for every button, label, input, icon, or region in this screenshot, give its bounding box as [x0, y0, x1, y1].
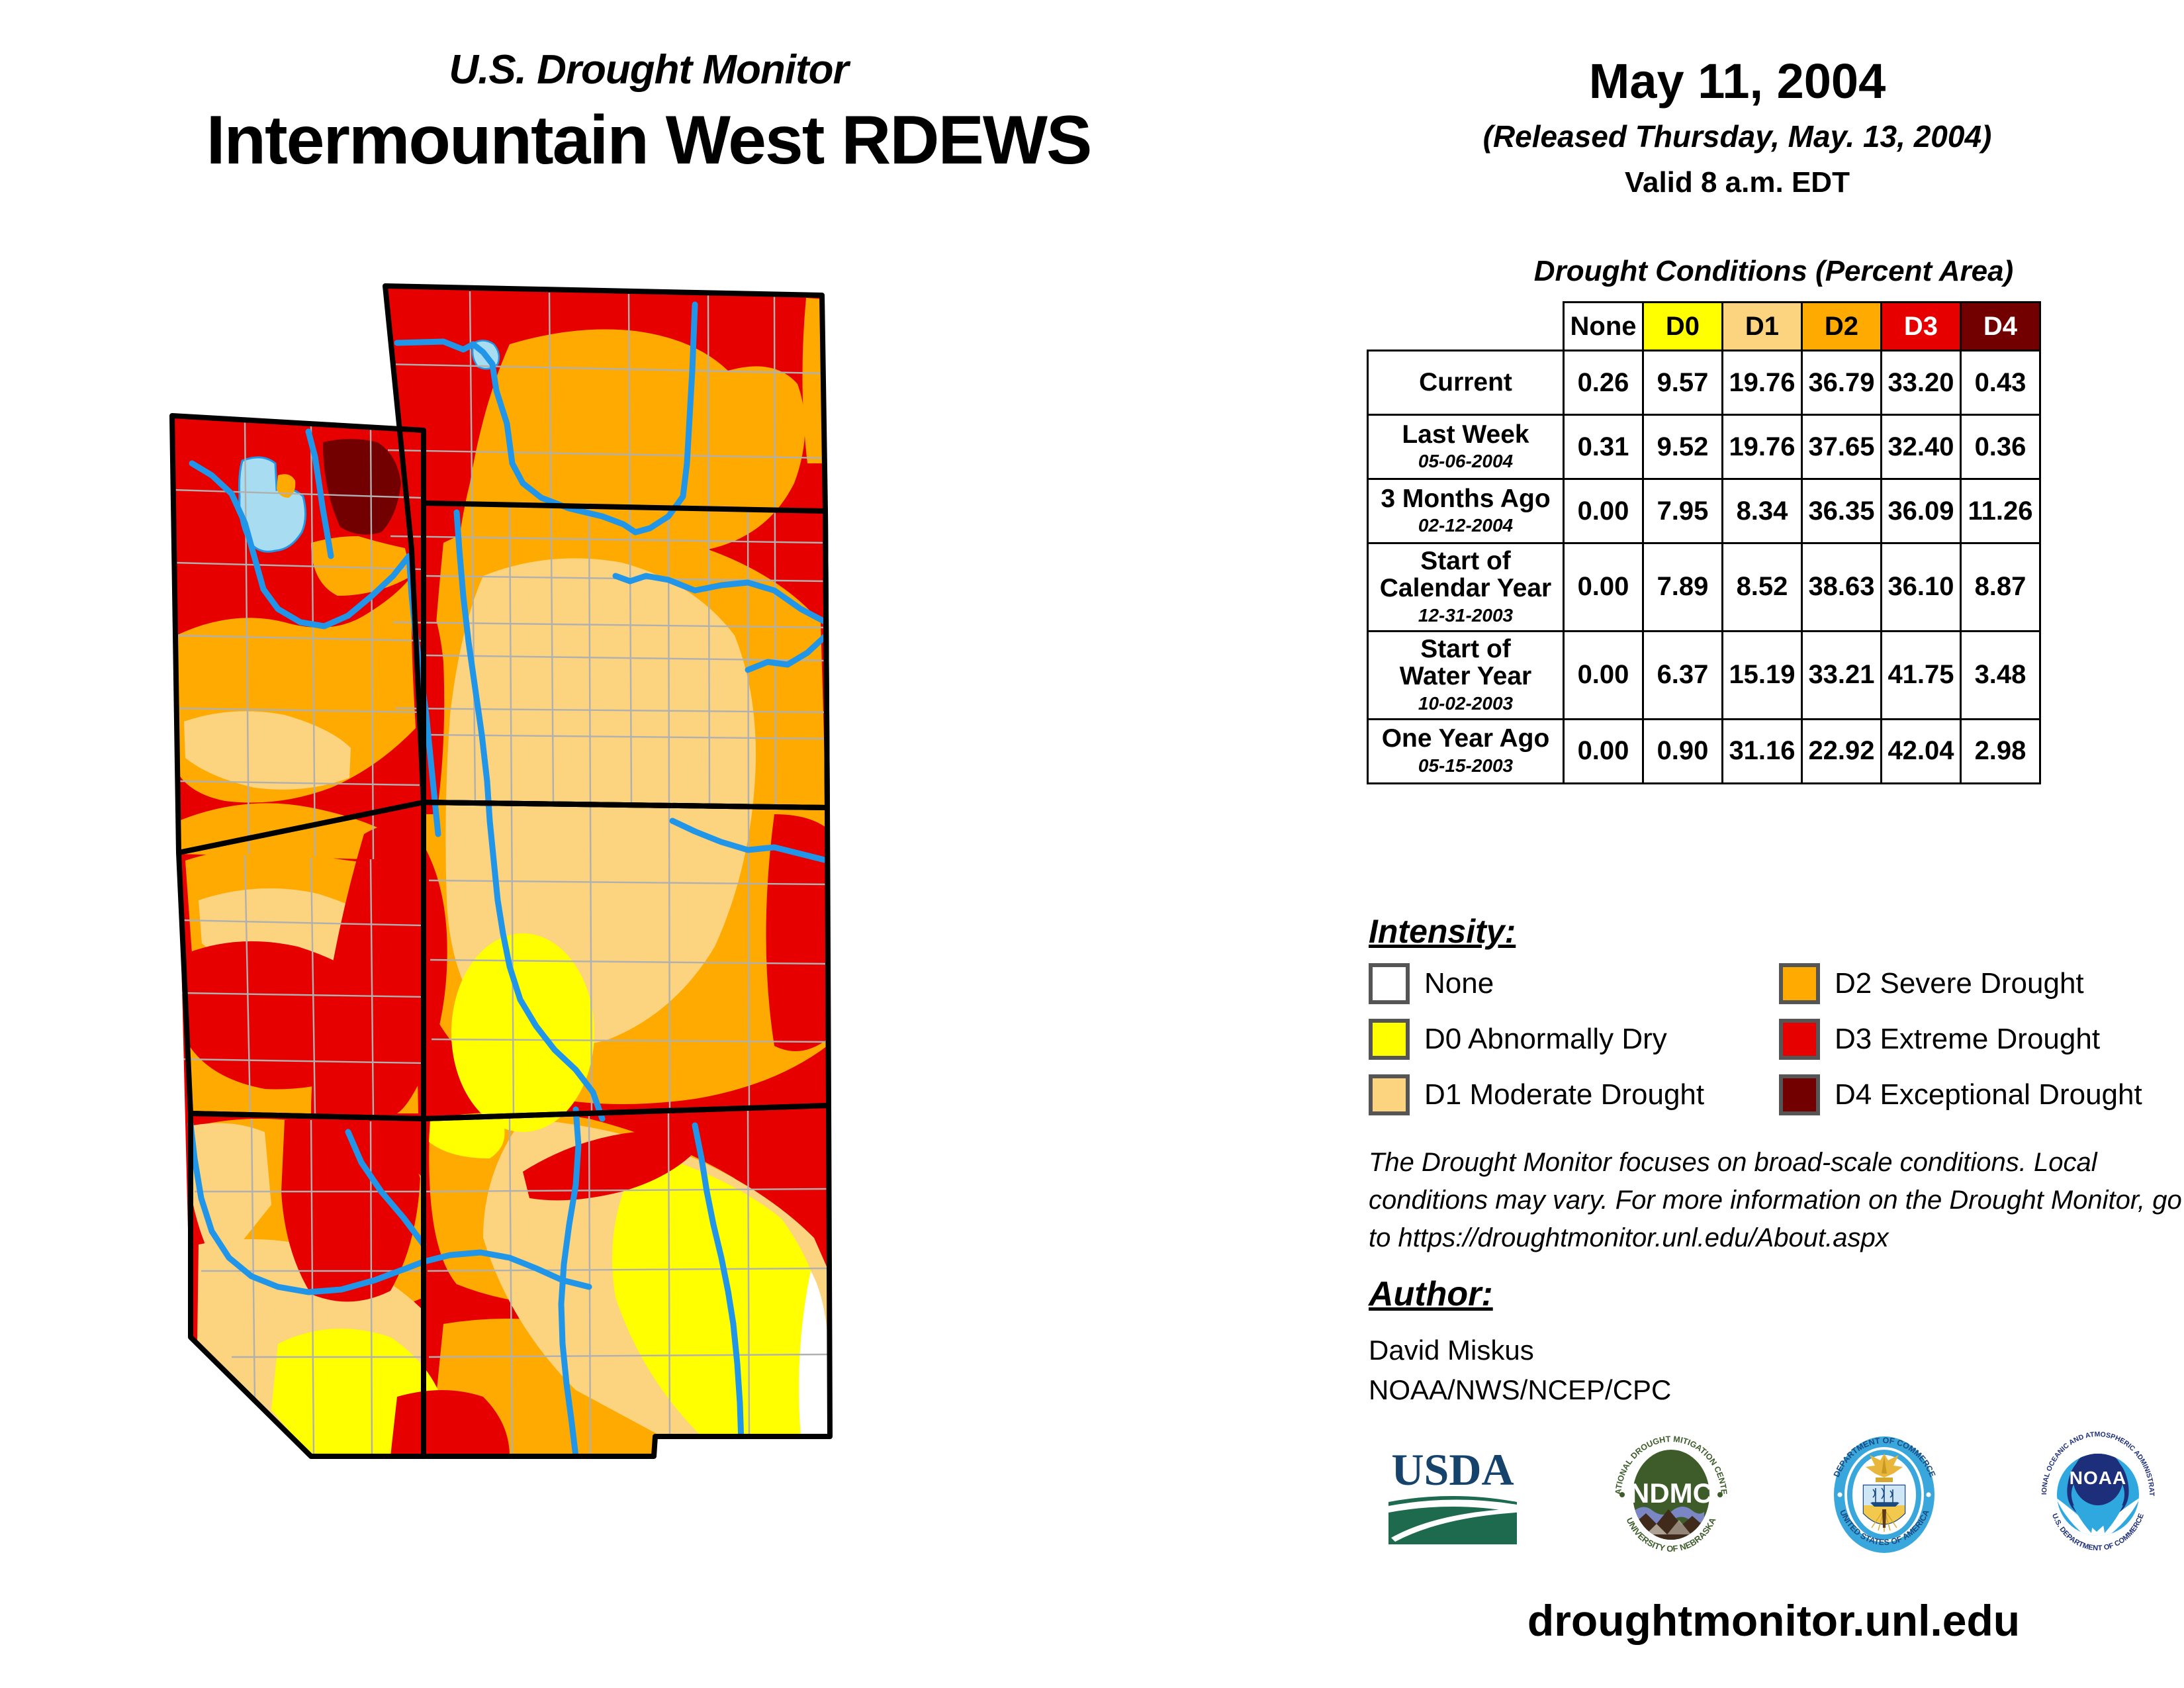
table-col-header-d1: D1 [1723, 303, 1802, 351]
author-heading: Author: [1369, 1274, 1493, 1314]
table-cell-d3: 36.09 [1882, 479, 1961, 543]
legend-item-none: None [1369, 963, 1779, 1004]
doc-logo: DEPARTMENT OF COMMERCE UNITED STATES OF … [1820, 1429, 1949, 1564]
drought-conditions-table: NoneD0D1D2D3D4 Current0.269.5719.7636.79… [1367, 301, 2041, 784]
author-block: David Miskus NOAA/NWS/NCEP/CPC [1369, 1331, 1671, 1409]
noaa-logo: NOAA NATIONAL OCEANIC AND ATMOSPHERIC AD… [2032, 1429, 2164, 1564]
table-cell-d3: 41.75 [1882, 631, 1961, 719]
table-row-label: Last Week05-06-2004 [1368, 415, 1564, 479]
table-col-header-d4: D4 [1961, 303, 2040, 351]
table-cell-d4: 0.36 [1961, 415, 2040, 479]
table-cell-d2: 37.65 [1802, 415, 1882, 479]
legend-label-d0: D0 Abnormally Dry [1424, 1023, 1667, 1056]
map-date: May 11, 2004 [1317, 53, 2158, 109]
table-cell-d2: 36.35 [1802, 479, 1882, 543]
row-label-name: One Year Ago [1371, 726, 1560, 753]
drought-map[interactable] [113, 265, 1297, 1489]
table-corner-cell [1368, 303, 1564, 351]
table-cell-none: 0.31 [1564, 415, 1643, 479]
legend-item-d2: D2 Severe Drought [1779, 963, 2184, 1004]
table-row-label: Start ofCalendar Year12-31-2003 [1368, 543, 1564, 632]
legend-label-none: None [1424, 967, 1494, 1000]
title-block: U.S. Drought Monitor Intermountain West … [0, 46, 1297, 180]
row-label-date: 05-06-2004 [1371, 451, 1560, 472]
intensity-legend: NoneD2 Severe DroughtD0 Abnormally DryD3… [1369, 963, 2184, 1115]
table-cell-d4: 2.98 [1961, 719, 2040, 783]
table-row: 3 Months Ago02-12-20040.007.958.3436.353… [1368, 479, 2040, 543]
legend-item-d4: D4 Exceptional Drought [1779, 1074, 2184, 1115]
legend-swatch-d4 [1779, 1074, 1820, 1115]
table-cell-none: 0.00 [1564, 543, 1643, 632]
disclaimer-text: The Drought Monitor focuses on broad-sca… [1369, 1144, 2184, 1256]
valid-time: Valid 8 a.m. EDT [1317, 166, 2158, 199]
row-label-date: 10-02-2003 [1371, 693, 1560, 714]
row-label-date: 05-15-2003 [1371, 755, 1560, 776]
legend-swatch-d0 [1369, 1019, 1410, 1060]
legend-label-d4: D4 Exceptional Drought [1835, 1078, 2142, 1111]
table-cell-d1: 19.76 [1723, 415, 1802, 479]
legend-heading: Intensity: [1369, 912, 1516, 951]
row-label-date: 02-12-2004 [1371, 515, 1560, 536]
row-label-name: Current [1371, 369, 1560, 397]
table-body: Current0.269.5719.7636.7933.200.43Last W… [1368, 351, 2040, 784]
table-cell-d4: 8.87 [1961, 543, 2040, 632]
author-affiliation: NOAA/NWS/NCEP/CPC [1369, 1370, 1671, 1410]
legend-label-d2: D2 Severe Drought [1835, 967, 2084, 1000]
table-cell-d4: 3.48 [1961, 631, 2040, 719]
table-caption: Drought Conditions (Percent Area) [1363, 255, 2184, 288]
legend-swatch-none [1369, 963, 1410, 1004]
table-cell-d2: 38.63 [1802, 543, 1882, 632]
table-col-header-none: None [1564, 303, 1643, 351]
table-cell-d2: 33.21 [1802, 631, 1882, 719]
table-cell-d0: 6.37 [1643, 631, 1723, 719]
table-cell-d2: 22.92 [1802, 719, 1882, 783]
table-row: Last Week05-06-20040.319.5219.7637.6532.… [1368, 415, 2040, 479]
table-cell-d0: 7.89 [1643, 543, 1723, 632]
svg-text:NOAA: NOAA [2070, 1468, 2126, 1488]
table-cell-d1: 15.19 [1723, 631, 1802, 719]
table-cell-none: 0.00 [1564, 631, 1643, 719]
legend-label-d3: D3 Extreme Drought [1835, 1023, 2100, 1056]
table-header-row: NoneD0D1D2D3D4 [1368, 303, 2040, 351]
table-row-label: Current [1368, 351, 1564, 415]
table-cell-d0: 7.95 [1643, 479, 1723, 543]
table-cell-d4: 0.43 [1961, 351, 2040, 415]
legend-item-d3: D3 Extreme Drought [1779, 1019, 2184, 1060]
table-cell-none: 0.00 [1564, 719, 1643, 783]
row-label-name: Start ofWater Year [1371, 636, 1560, 690]
table-cell-d3: 33.20 [1882, 351, 1961, 415]
table-cell-d1: 19.76 [1723, 351, 1802, 415]
table-row-label: One Year Ago05-15-2003 [1368, 719, 1564, 783]
row-label-name: Start ofCalendar Year [1371, 548, 1560, 602]
table-cell-d3: 36.10 [1882, 543, 1961, 632]
svg-text:USDA: USDA [1391, 1444, 1514, 1495]
page-subtitle: U.S. Drought Monitor [0, 46, 1297, 93]
table-cell-d0: 9.57 [1643, 351, 1723, 415]
table-cell-d2: 36.79 [1802, 351, 1882, 415]
row-label-name: Last Week [1371, 422, 1560, 449]
table-cell-d4: 11.26 [1961, 479, 2040, 543]
table-row: Start ofCalendar Year12-31-20030.007.898… [1368, 543, 2040, 632]
table-row: Start ofWater Year10-02-20030.006.3715.1… [1368, 631, 2040, 719]
logo-row: USDA NDMC NATIONAL DROUGHT MITIGATION CE [1383, 1423, 2164, 1569]
table-col-header-d2: D2 [1802, 303, 1882, 351]
legend-swatch-d2 [1779, 963, 1820, 1004]
page-title: Intermountain West RDEWS [0, 101, 1297, 180]
legend-item-d1: D1 Moderate Drought [1369, 1074, 1779, 1115]
legend-swatch-d3 [1779, 1019, 1820, 1060]
table-cell-none: 0.26 [1564, 351, 1643, 415]
table-cell-d1: 8.34 [1723, 479, 1802, 543]
svg-text:NDMC: NDMC [1629, 1477, 1713, 1509]
table-row: Current0.269.5719.7636.7933.200.43 [1368, 351, 2040, 415]
table-cell-d3: 42.04 [1882, 719, 1961, 783]
table-cell-d3: 32.40 [1882, 415, 1961, 479]
ndmc-logo: NDMC NATIONAL DROUGHT MITIGATION CENTER … [1605, 1429, 1737, 1564]
date-block: May 11, 2004 (Released Thursday, May. 13… [1317, 53, 2158, 199]
table-row: One Year Ago05-15-20030.000.9031.1622.92… [1368, 719, 2040, 783]
table-cell-d1: 31.16 [1723, 719, 1802, 783]
table-col-header-d0: D0 [1643, 303, 1723, 351]
release-date: (Released Thursday, May. 13, 2004) [1317, 118, 2158, 154]
table-cell-d0: 9.52 [1643, 415, 1723, 479]
author-name: David Miskus [1369, 1331, 1671, 1370]
legend-label-d1: D1 Moderate Drought [1424, 1078, 1704, 1111]
usda-logo: USDA [1383, 1438, 1522, 1554]
table-cell-none: 0.00 [1564, 479, 1643, 543]
table-cell-d1: 8.52 [1723, 543, 1802, 632]
row-label-name: 3 Months Ago [1371, 486, 1560, 513]
table-row-label: Start ofWater Year10-02-2003 [1368, 631, 1564, 719]
footer-url: droughtmonitor.unl.edu [1363, 1595, 2184, 1646]
legend-swatch-d1 [1369, 1074, 1410, 1115]
table-row-label: 3 Months Ago02-12-2004 [1368, 479, 1564, 543]
table-cell-d0: 0.90 [1643, 719, 1723, 783]
table-col-header-d3: D3 [1882, 303, 1961, 351]
legend-item-d0: D0 Abnormally Dry [1369, 1019, 1779, 1060]
row-label-date: 12-31-2003 [1371, 605, 1560, 626]
